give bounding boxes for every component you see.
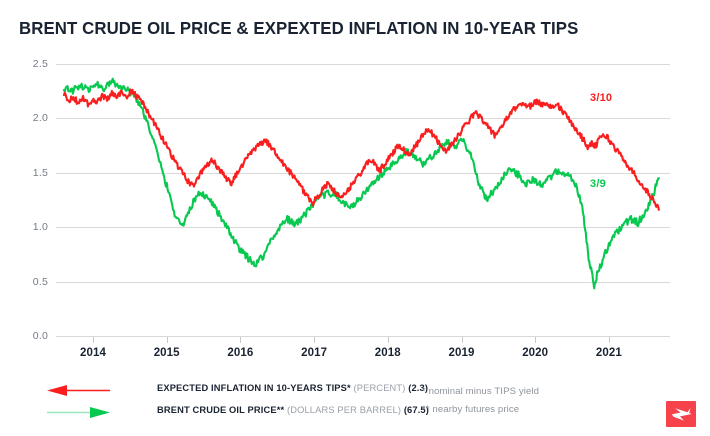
end-label-oil: 3/9 — [590, 178, 606, 190]
y-axis-label-2.5: 2.5 — [14, 58, 48, 70]
x-axis-label-2018: 2018 — [358, 347, 418, 359]
x-axis-label-2021: 2021 — [579, 347, 639, 359]
x-axis-label-2019: 2019 — [432, 347, 492, 359]
footnote-2: ** nearby futures price — [422, 401, 539, 419]
legend-item-oil[interactable]: BRENT CRUDE OIL PRICE** (DOLLARS PER BAR… — [47, 403, 407, 421]
x-tick-2021 — [609, 337, 610, 343]
logo-mark[interactable] — [666, 401, 696, 427]
footnote-1: * nominal minus TIPS yield — [422, 383, 539, 401]
x-tick-2015 — [167, 337, 168, 343]
y-axis-label-2.0: 2.0 — [14, 112, 48, 124]
chart-container: BRENT CRUDE OIL PRICE & EXPEXTED INFLATI… — [0, 0, 710, 436]
bird-arrow-icon — [666, 401, 696, 427]
end-label-inflation: 3/10 — [590, 92, 612, 104]
legend-label-oil: BRENT CRUDE OIL PRICE** (DOLLARS PER BAR… — [157, 405, 429, 415]
page-title: BRENT CRUDE OIL PRICE & EXPEXTED INFLATI… — [19, 18, 578, 39]
y-axis-label-0.5: 0.5 — [14, 276, 48, 288]
x-axis-label-2016: 2016 — [210, 347, 270, 359]
footnotes: * nominal minus TIPS yield ** nearby fut… — [422, 383, 539, 419]
x-tick-2020 — [535, 337, 536, 343]
legend: EXPECTED INFLATION IN 10-YEARS TIPS* (PE… — [47, 381, 407, 421]
x-tick-2018 — [388, 337, 389, 343]
x-tick-2017 — [314, 337, 315, 343]
plot-area — [56, 64, 670, 336]
legend-name-inflation: EXPECTED INFLATION IN 10-YEARS TIPS* — [157, 383, 351, 393]
series-lines — [56, 64, 670, 336]
y-axis-label-1.0: 1.0 — [14, 221, 48, 233]
x-tick-2019 — [462, 337, 463, 343]
legend-unit-oil: (DOLLARS PER BARREL) — [287, 405, 401, 415]
gridline-0.0 — [56, 336, 670, 337]
x-axis-label-2015: 2015 — [137, 347, 197, 359]
x-axis-label-2020: 2020 — [505, 347, 565, 359]
x-tick-2014 — [93, 337, 94, 343]
legend-label-inflation: EXPECTED INFLATION IN 10-YEARS TIPS* (PE… — [157, 383, 428, 393]
y-axis-label-0.0: 0.0 — [14, 330, 48, 342]
legend-item-inflation[interactable]: EXPECTED INFLATION IN 10-YEARS TIPS* (PE… — [47, 381, 407, 399]
legend-unit-inflation: (PERCENT) — [354, 383, 406, 393]
x-axis-label-2014: 2014 — [63, 347, 123, 359]
arrow-right-icon — [47, 407, 110, 418]
oil-price-line — [64, 79, 659, 289]
expected-inflation-line — [64, 89, 659, 209]
x-axis-label-2017: 2017 — [284, 347, 344, 359]
y-axis-label-1.5: 1.5 — [14, 167, 48, 179]
arrow-left-icon — [47, 385, 110, 396]
x-tick-2016 — [240, 337, 241, 343]
legend-name-oil: BRENT CRUDE OIL PRICE** — [157, 405, 284, 415]
